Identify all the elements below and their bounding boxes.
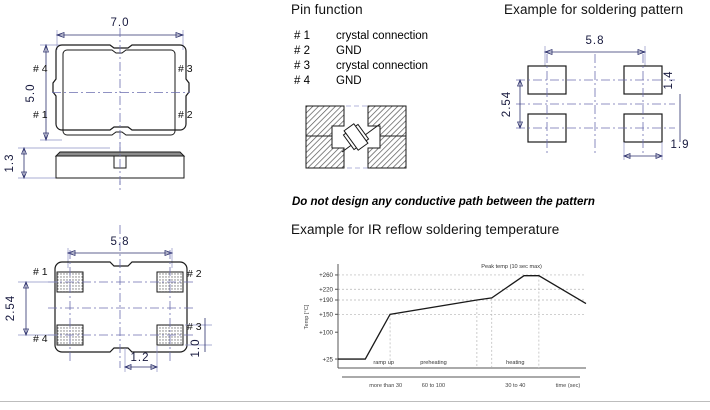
footer-divider (0, 401, 710, 402)
chart-xtick: more than 30 (369, 383, 402, 389)
solder-pitch-dim: 2.54 (501, 91, 513, 117)
reflow-title-text: Example for IR reflow soldering temperat… (291, 222, 559, 237)
pin-function-row: # 2 GND (294, 45, 428, 57)
soldering-pattern-diagram: 5.8 2.54 1.4 (500, 28, 710, 168)
solder-pad-width-dim: 1.9 (671, 139, 690, 151)
chart-ytick: +150 (319, 312, 333, 319)
top-view-width-dim: 7.0 (111, 17, 130, 29)
crystal-connection-svg (296, 100, 416, 175)
pin-id: # 4 (294, 75, 336, 87)
chart-peak-annotation: Peak temp (10 sec max) (481, 264, 542, 270)
pin-function-title: Pin function (291, 2, 363, 17)
pin-function-row: # 1 crystal connection (294, 30, 428, 42)
soldering-pattern-section: Example for soldering pattern (504, 2, 683, 17)
pin-function-section: Pin function (291, 2, 363, 17)
pin-function-label: crystal connection (336, 60, 428, 72)
top-view-height-dim: 5.0 (25, 84, 37, 103)
bottom-view-pad-width-dim: 1.2 (131, 352, 150, 364)
pin-id: # 2 (294, 45, 336, 57)
pin-function-row: # 3 crystal connection (294, 60, 428, 72)
bottom-view-pin-tr: # 2 (187, 268, 202, 280)
solder-span-dim: 5.8 (586, 35, 605, 47)
crystal-connection-diagram (296, 100, 416, 175)
chart-ylabel: Temp [°C] (304, 304, 310, 329)
pin-function-label: crystal connection (336, 30, 428, 42)
top-view-pin-tr: # 3 (178, 63, 193, 75)
bottom-view-pad-height-dim: 1.0 (190, 339, 202, 358)
bottom-view-pitch-dim: 2.54 (5, 295, 17, 321)
pin-function-label: GND (336, 45, 362, 57)
mechanical-drawing-panel: 7.0 5.0 # 4 # 1 # 3 # 2 (0, 0, 250, 400)
chart-xtick: 30 to 40 (505, 383, 525, 389)
soldering-pattern-svg: 5.8 2.54 1.4 (500, 28, 710, 168)
top-view-pin-br: # 2 (178, 109, 193, 121)
chart-ytick: +100 (319, 329, 333, 336)
bottom-view-pin-br: # 3 (187, 321, 202, 333)
chart-ytick: +25 (323, 356, 334, 363)
bottom-view-pin-tl: # 1 (33, 266, 48, 278)
pin-function-list: # 1 crystal connection # 2 GND # 3 cryst… (294, 30, 428, 87)
top-view-pin-bl: # 1 (33, 109, 48, 121)
chart-segment-label: heating (506, 360, 524, 366)
chart-segment-label: ramp up (373, 360, 394, 366)
chart-ytick: +260 (319, 272, 333, 279)
chart-ytick: +190 (319, 297, 333, 304)
top-view-pin-tl: # 4 (33, 63, 48, 75)
chart-xlabel: time (sec) (556, 383, 581, 389)
pin-function-label: GND (336, 75, 362, 87)
mechanical-drawing-svg: 7.0 5.0 # 4 # 1 # 3 # 2 (0, 0, 250, 400)
chart-segment-label: preheating (420, 360, 446, 366)
pin-id: # 1 (294, 30, 336, 42)
bottom-view-pin-bl: # 4 (33, 333, 48, 345)
chart-ytick: +220 (319, 286, 333, 293)
datasheet-page: 7.0 5.0 # 4 # 1 # 3 # 2 (0, 0, 710, 410)
soldering-pattern-title: Example for soldering pattern (504, 2, 683, 17)
warning-note-text: Do not design any conductive path betwee… (292, 196, 595, 208)
reflow-chart-svg: +260+220+190+150+100+25Temp [°C]ramp upp… (294, 256, 594, 401)
conductive-path-warning: Do not design any conductive path betwee… (292, 196, 595, 208)
pin-function-row: # 4 GND (294, 75, 428, 87)
chart-profile-line (338, 276, 586, 359)
reflow-chart: +260+220+190+150+100+25Temp [°C]ramp upp… (294, 256, 594, 401)
pin-id: # 3 (294, 60, 336, 72)
solder-pad-height-dim: 1.4 (663, 71, 675, 90)
side-view-thickness-dim: 1.3 (4, 154, 16, 173)
chart-xtick: 60 to 100 (422, 383, 445, 389)
reflow-section-title: Example for IR reflow soldering temperat… (291, 222, 559, 237)
